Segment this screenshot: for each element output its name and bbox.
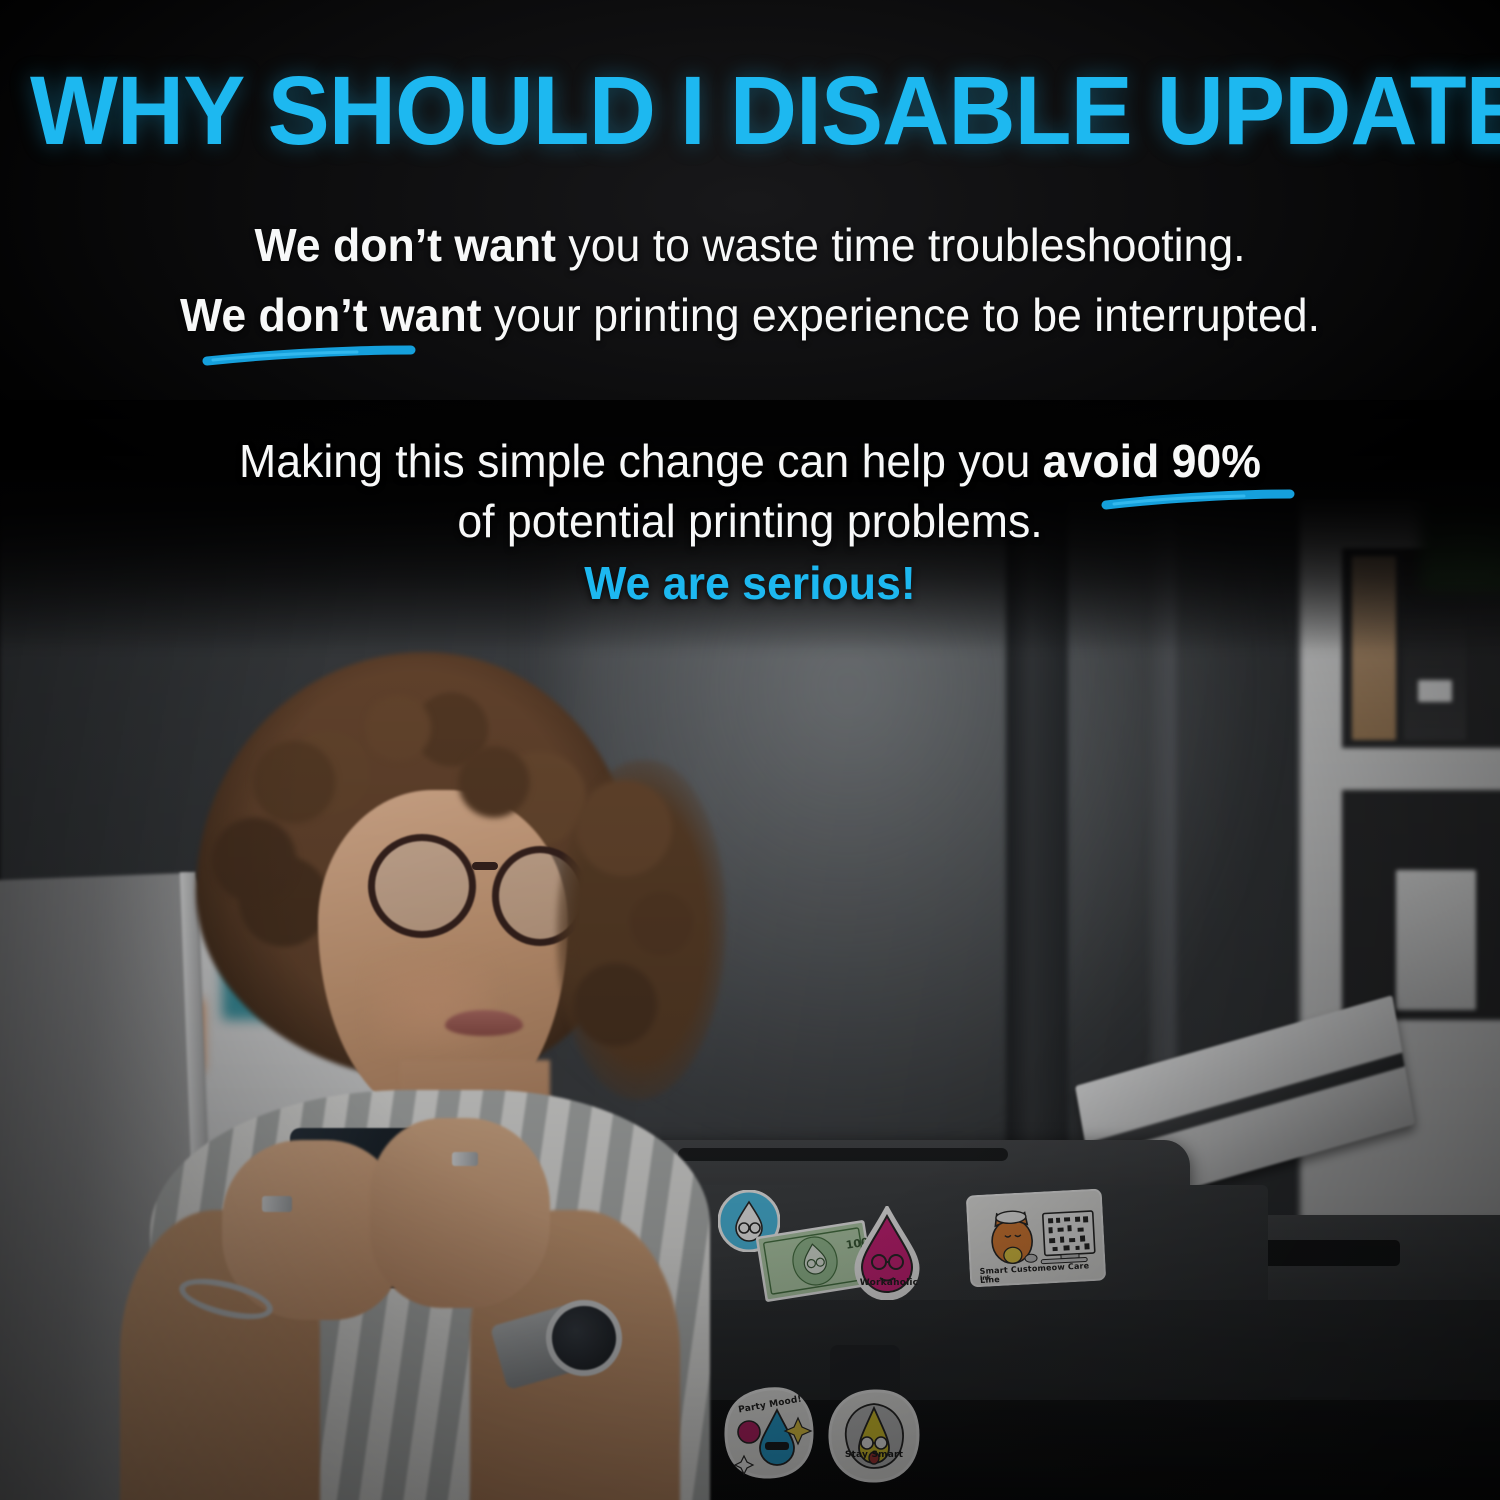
ring-right bbox=[452, 1152, 478, 1166]
sticker-customeow-card: Ink Smart Customeow Care Line bbox=[966, 1189, 1107, 1288]
body-line-1-rest: you to waste time troubleshooting. bbox=[556, 219, 1246, 271]
body-line-2-bold: We don’t want bbox=[180, 289, 482, 341]
page-title: WHY SHOULD I DISABLE UPDATES? bbox=[30, 62, 1470, 159]
lips bbox=[445, 1010, 523, 1036]
marker-underline-1 bbox=[205, 348, 415, 360]
shelf-item-white bbox=[1396, 870, 1476, 1010]
body-line-3-rest: Making this simple change can help you bbox=[239, 435, 1043, 487]
body-line-2-rest: your printing experience to be interrupt… bbox=[482, 289, 1320, 341]
body-line-3-bold: avoid 90% bbox=[1043, 435, 1261, 487]
ring-left bbox=[262, 1196, 292, 1212]
body-line-1: We don’t want you to waste time troubles… bbox=[23, 222, 1478, 268]
hair-fringe bbox=[206, 662, 606, 962]
body-line-2: We don’t want your printing experience t… bbox=[23, 292, 1478, 338]
body-line-3: Making this simple change can help you a… bbox=[23, 438, 1478, 484]
poster-canvas: 100 Workaholic bbox=[0, 0, 1500, 1500]
sticker-workaholic-label: Workaholic bbox=[854, 1278, 924, 1288]
sticker-stay-smart-label: Stay Smart bbox=[832, 1450, 916, 1460]
marker-underline-2 bbox=[1104, 492, 1294, 504]
body-line-1-bold: We don’t want bbox=[254, 219, 556, 271]
sticker-party-mood: Party Mood! bbox=[722, 1386, 816, 1480]
printer-hinge-right bbox=[1290, 1342, 1350, 1397]
right-hand bbox=[370, 1118, 550, 1308]
binder-label bbox=[1418, 680, 1452, 702]
printer-lid-slot bbox=[678, 1148, 1008, 1161]
tagline: We are serious! bbox=[23, 560, 1478, 606]
cheek-highlight bbox=[372, 960, 492, 1050]
sticker-workaholic: Workaholic bbox=[848, 1206, 926, 1300]
sticker-stay-smart: Stay Smart bbox=[826, 1388, 922, 1484]
